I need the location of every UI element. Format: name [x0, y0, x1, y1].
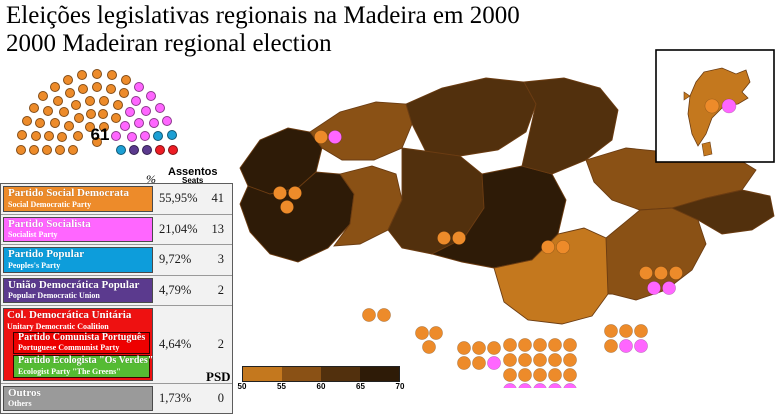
infographic-root: Eleições legislativas regionais na Madei…: [0, 0, 776, 405]
scale-label: PSD: [206, 369, 231, 385]
party-percent: 4,79%: [159, 283, 191, 298]
parliament-seat: [50, 82, 60, 92]
map-vote-dot: [541, 240, 554, 253]
sub-party-name-pt: Partido Comunista Português: [18, 333, 146, 344]
parliament-seat: [16, 145, 26, 155]
map-vote-dot: [634, 324, 647, 337]
map-vote-dot: [604, 339, 617, 352]
parliament-seat: [92, 69, 102, 79]
parliament-seat: [141, 106, 151, 116]
map-region-santana: [406, 78, 536, 156]
parliament-seat: [153, 131, 163, 141]
results-table: Partido Social DemocrataSocial Democrati…: [0, 183, 233, 414]
map-vote-dot: [647, 281, 660, 294]
parliament-seat: [140, 131, 150, 141]
parliament-seat: [71, 100, 81, 110]
parliament-seat: [129, 145, 139, 155]
map-vote-dot: [533, 338, 546, 351]
scale-tick: 50: [238, 382, 247, 391]
parliament-seat: [142, 145, 152, 155]
map-vote-dot: [556, 240, 569, 253]
map-color-scale: PSD 5055606570: [206, 364, 416, 394]
santa-cruz-dots: [604, 324, 647, 352]
sub-party-swatch: Partido Ecologista "Os Verdes"Ecologist …: [13, 355, 150, 378]
party-seats: 2: [206, 337, 224, 352]
map-vote-dot: [604, 324, 617, 337]
scale-gradient-bar: [242, 366, 400, 382]
parliament-seat: [38, 91, 48, 101]
funchal-dots: [503, 338, 576, 388]
parliament-seat: [68, 145, 78, 155]
ribeira-brava-dots: [415, 326, 442, 353]
map-vote-dot: [548, 353, 561, 366]
scale-color-step: [282, 367, 321, 381]
parliament-seat: [78, 84, 88, 94]
party-seats: 3: [206, 252, 224, 267]
map-vote-dot: [654, 266, 667, 279]
map-vote-dot: [280, 200, 293, 213]
party-color-swatch: Partido PopularPeoples's Party: [3, 247, 153, 273]
map-vote-dot: [288, 186, 301, 199]
sub-party-name-pt: Partido Ecologista "Os Verdes": [18, 356, 146, 367]
map-vote-dot: [487, 356, 500, 369]
map-vote-dot: [503, 353, 516, 366]
parliament-seat: [167, 130, 177, 140]
sub-party-swatch: Partido Comunista PortuguêsPortuguese Co…: [13, 332, 150, 355]
party-color-swatch: Col. Democrática UnitáriaUnitary Democra…: [3, 308, 153, 381]
map-vote-dot: [472, 356, 485, 369]
map-vote-dot: [273, 186, 286, 199]
parliament-seat: [98, 109, 108, 119]
scale-tick-labels: 5055606570: [242, 382, 400, 394]
parliament-seat: [107, 70, 117, 80]
table-row: Partido PopularPeoples's Party9,72%3: [1, 245, 232, 276]
map-vote-dot: [457, 341, 470, 354]
parliament-seat: [155, 145, 165, 155]
parliament-seat: [85, 96, 95, 106]
party-color-swatch: União Democrática PopularPopular Democra…: [3, 278, 153, 304]
result-values: 4,79%2: [155, 276, 232, 306]
parliament-seat: [119, 88, 129, 98]
party-percent: 55,95%: [159, 191, 198, 206]
page-title-pt: Eleições legislativas regionais na Madei…: [6, 2, 646, 30]
parliament-seat: [111, 113, 121, 123]
parliament-seat: [99, 96, 109, 106]
map-vote-dot: [518, 368, 531, 381]
table-row: Col. Democrática UnitáriaUnitary Democra…: [1, 306, 232, 384]
parliament-seat: [63, 75, 73, 85]
parliament-seat: [127, 132, 137, 142]
map-vote-dot: [548, 368, 561, 381]
party-name-pt: Col. Democrática Unitária: [7, 310, 150, 322]
parliament-seat: [155, 103, 165, 113]
result-values: 21,04%13: [155, 215, 232, 245]
map-vote-dot: [328, 130, 341, 143]
map-vote-dot: [533, 353, 546, 366]
table-row: OutrosOthers1,73%0: [1, 384, 232, 414]
scale-tick: 65: [356, 382, 365, 391]
parliament-seat: [134, 118, 144, 128]
madeira-choropleth-map: [236, 48, 776, 388]
parliament-seat: [121, 75, 131, 85]
parliament-seat: [134, 82, 144, 92]
parliament-seat: [17, 130, 27, 140]
scale-tick: 70: [396, 382, 405, 391]
map-vote-dot: [472, 341, 485, 354]
map-vote-dot: [548, 383, 561, 388]
parliament-seat: [146, 91, 156, 101]
map-vote-dot: [518, 383, 531, 388]
table-row: Partido SocialistaSocialist Party21,04%1…: [1, 215, 232, 246]
party-percent: 1,73%: [159, 391, 191, 406]
sub-party-name-en: Ecologist Party "The Greens": [18, 367, 146, 376]
parliament-seat: [113, 100, 123, 110]
map-vote-dot: [533, 368, 546, 381]
map-vote-dot: [634, 339, 647, 352]
party-name-en: Others: [8, 399, 149, 408]
map-vote-dot: [639, 266, 652, 279]
parliament-seat: [86, 109, 96, 119]
parliament-seat: [55, 145, 65, 155]
map-region-sao-vicente: [310, 102, 412, 160]
map-vote-dot: [487, 341, 500, 354]
party-seats: 2: [206, 283, 224, 298]
islet: [702, 142, 712, 156]
map-vote-dot: [705, 99, 719, 113]
party-percent: 21,04%: [159, 222, 198, 237]
scale-color-step: [321, 367, 360, 381]
parliament-seat: [125, 107, 135, 117]
map-vote-dot: [548, 338, 561, 351]
map-vote-dot: [533, 383, 546, 388]
map-vote-dot: [662, 281, 675, 294]
result-values: 55,95%41: [155, 184, 232, 214]
map-vote-dot: [314, 130, 327, 143]
parliament-seat: [59, 107, 69, 117]
parliament-seat: [42, 145, 52, 155]
map-vote-dot: [619, 324, 632, 337]
party-color-swatch: Partido Social DemocrataSocial Democrati…: [3, 186, 153, 212]
map-vote-dot: [619, 339, 632, 352]
map-vote-dot: [518, 338, 531, 351]
parliament-seat: [43, 106, 53, 116]
party-seats: 41: [206, 191, 224, 206]
map-vote-dot: [722, 99, 736, 113]
parliament-seat: [29, 103, 39, 113]
parliament-seat: [92, 82, 102, 92]
party-name-pt: Partido Social Democrata: [8, 188, 149, 200]
party-percent: 9,72%: [159, 252, 191, 267]
map-vote-dot: [452, 231, 465, 244]
parliament-seat: [106, 84, 116, 94]
map-vote-dot: [457, 356, 470, 369]
parliament-seat: [64, 121, 74, 131]
scale-tick: 60: [317, 382, 326, 391]
parliament-seat: [22, 116, 32, 126]
map-vote-dot: [669, 266, 682, 279]
parliament-seat: [50, 118, 60, 128]
scale-color-step: [360, 367, 399, 381]
party-name-pt: Partido Popular: [8, 249, 149, 261]
party-color-swatch: OutrosOthers: [3, 386, 153, 412]
party-name-en: Socialist Party: [8, 230, 149, 239]
party-name-en: Popular Democratic Union: [8, 291, 149, 300]
parliament-total-seats: 61: [82, 125, 118, 145]
map-vote-dot: [503, 383, 516, 388]
party-name-pt: União Democrática Popular: [8, 280, 149, 292]
party-percent: 4,64%: [159, 337, 191, 352]
party-name-en: Unitary Democratic Coalition: [7, 322, 150, 331]
parliament-seat: [31, 131, 41, 141]
scale-tick: 55: [277, 382, 286, 391]
parliament-seat: [120, 121, 130, 131]
map-vote-dot: [563, 353, 576, 366]
parliament-seat: [35, 118, 45, 128]
parliament-seat: [162, 116, 172, 126]
party-seats: 13: [206, 222, 224, 237]
map-vote-dot: [503, 368, 516, 381]
porto-santo-inset: [656, 50, 774, 162]
map-vote-dot: [362, 308, 375, 321]
scale-color-step: [243, 367, 282, 381]
parliament-seat: [29, 145, 39, 155]
sub-party-name-en: Portuguese Communist Party: [18, 343, 146, 352]
party-name-pt: Outros: [8, 388, 149, 400]
camara-de-lobos-dots: [457, 341, 500, 369]
parliament-seat: [77, 70, 87, 80]
parliament-seat: [149, 118, 159, 128]
ponta-do-sol-dots: [362, 308, 390, 321]
parliament-seat: [168, 145, 178, 155]
map-vote-dot: [518, 353, 531, 366]
map-vote-dot: [503, 338, 516, 351]
parliament-seat: [65, 88, 75, 98]
parliament-seat: [57, 132, 67, 142]
map-vote-dot: [422, 340, 435, 353]
parliament-seat: [116, 145, 126, 155]
map-vote-dot: [563, 368, 576, 381]
table-row: Partido Social DemocrataSocial Democrati…: [1, 184, 232, 215]
parliament-seat: [53, 96, 63, 106]
result-values: 9,72%3: [155, 245, 232, 275]
map-vote-dot: [429, 326, 442, 339]
map-vote-dot: [563, 383, 576, 388]
party-name-en: Social Democratic Party: [8, 200, 149, 209]
party-name-en: Peoples's Party: [8, 261, 149, 270]
map-vote-dot: [437, 231, 450, 244]
table-row: União Democrática PopularPopular Democra…: [1, 276, 232, 307]
map-vote-dot: [415, 326, 428, 339]
map-vote-dot: [563, 338, 576, 351]
party-name-pt: Partido Socialista: [8, 219, 149, 231]
parliament-seat: [131, 96, 141, 106]
map-vote-dot: [377, 308, 390, 321]
parliament-seat: [74, 113, 84, 123]
party-color-swatch: Partido SocialistaSocialist Party: [3, 217, 153, 243]
parliament-seat: [44, 131, 54, 141]
